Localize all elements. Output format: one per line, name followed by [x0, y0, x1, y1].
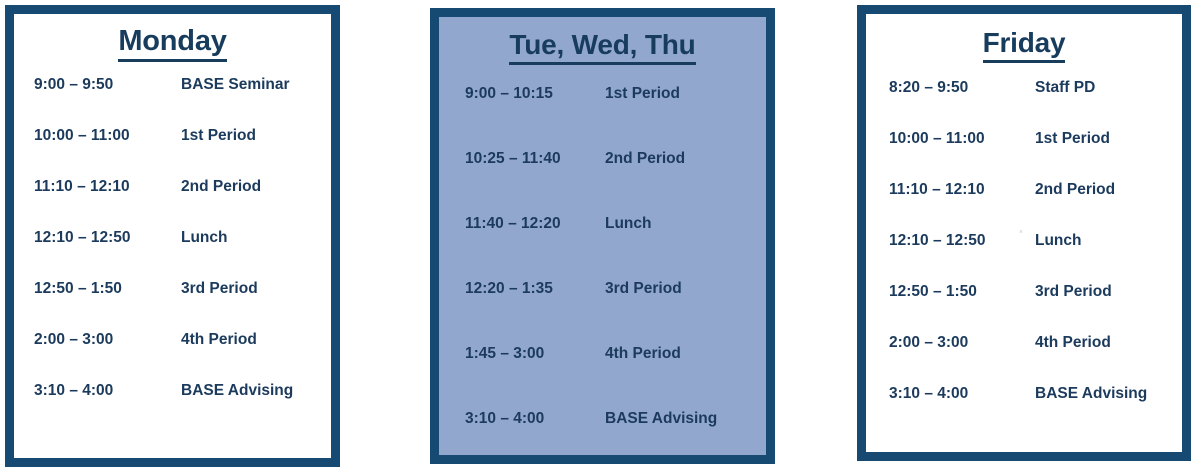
card-title-text: Tue, Wed, Thu [509, 29, 695, 65]
row-label: Lunch [181, 229, 228, 247]
row-time: 9:00 – 9:50 [34, 76, 181, 94]
row-label: 1st Period [181, 127, 256, 145]
schedule-row: 12:10 – 12:50 Lunch [889, 232, 1180, 283]
card-inner-monday: Monday 9:00 – 9:50 BASE Seminar 10:00 – … [14, 14, 331, 458]
row-label: 3rd Period [605, 280, 682, 298]
row-time: 12:50 – 1:50 [889, 283, 1035, 301]
row-time: 8:20 – 9:50 [889, 79, 1035, 97]
card-inner-friday: Friday 8:20 – 9:50 Staff PD 10:00 – 11:0… [866, 14, 1182, 452]
row-time: 12:50 – 1:50 [34, 280, 181, 298]
row-time: 3:10 – 4:00 [34, 382, 181, 400]
row-label: 3rd Period [1035, 283, 1112, 301]
row-label: BASE Advising [181, 382, 293, 400]
row-label: 2nd Period [181, 178, 261, 196]
row-time: 12:10 – 12:50 [889, 232, 1035, 250]
schedule-row: 9:00 – 9:50 BASE Seminar [34, 76, 329, 127]
row-label: 2nd Period [1035, 181, 1115, 199]
schedule-row: 11:40 – 12:20 Lunch [465, 215, 764, 280]
schedule-row: 10:00 – 11:00 1st Period [889, 130, 1180, 181]
row-label: BASE Advising [1035, 385, 1147, 403]
row-label: 3rd Period [181, 280, 258, 298]
row-time: 10:25 – 11:40 [465, 150, 605, 168]
row-label: 2nd Period [605, 150, 685, 168]
schedule-row: 12:10 – 12:50 Lunch [34, 229, 329, 280]
row-time: 2:00 – 3:00 [34, 331, 181, 349]
schedule-card-midweek: Tue, Wed, Thu 9:00 – 10:15 1st Period 10… [430, 8, 775, 464]
stray-mark-artifact: × [1019, 230, 1024, 235]
row-time: 11:10 – 12:10 [889, 181, 1035, 199]
schedule-row: 11:10 – 12:10 2nd Period [889, 181, 1180, 232]
schedule-row: 12:20 – 1:35 3rd Period [465, 280, 764, 345]
card-title-text: Friday [983, 27, 1066, 63]
card-inner-midweek: Tue, Wed, Thu 9:00 – 10:15 1st Period 10… [439, 17, 766, 455]
card-title-monday: Monday [16, 25, 329, 62]
row-label: Lunch [1035, 232, 1082, 250]
schedule-card-monday: Monday 9:00 – 9:50 BASE Seminar 10:00 – … [5, 5, 340, 467]
row-time: 11:10 – 12:10 [34, 178, 181, 196]
schedule-row: 3:10 – 4:00 BASE Advising [465, 410, 764, 475]
row-time: 10:00 – 11:00 [889, 130, 1035, 148]
card-title-text: Monday [118, 25, 226, 62]
schedule-row: 10:25 – 11:40 2nd Period [465, 150, 764, 215]
schedule-row: 10:00 – 11:00 1st Period [34, 127, 329, 178]
row-label: 1st Period [605, 85, 680, 103]
schedule-row: 3:10 – 4:00 BASE Advising [889, 385, 1180, 436]
schedule-rows-monday: 9:00 – 9:50 BASE Seminar 10:00 – 11:00 1… [16, 62, 329, 433]
row-time: 10:00 – 11:00 [34, 127, 181, 145]
schedule-row: 9:00 – 10:15 1st Period [465, 85, 764, 150]
schedule-board: Monday 9:00 – 9:50 BASE Seminar 10:00 – … [0, 0, 1200, 473]
card-title-friday: Friday [868, 27, 1180, 63]
row-label: 4th Period [605, 345, 681, 363]
schedule-row: 12:50 – 1:50 3rd Period [889, 283, 1180, 334]
schedule-rows-midweek: 9:00 – 10:15 1st Period 10:25 – 11:40 2n… [441, 65, 764, 475]
row-time: 12:20 – 1:35 [465, 280, 605, 298]
row-label: 4th Period [181, 331, 257, 349]
schedule-row: 11:10 – 12:10 2nd Period [34, 178, 329, 229]
row-time: 3:10 – 4:00 [465, 410, 605, 428]
row-label: BASE Seminar [181, 76, 290, 94]
row-label: 1st Period [1035, 130, 1110, 148]
schedule-row: 12:50 – 1:50 3rd Period [34, 280, 329, 331]
schedule-row: 3:10 – 4:00 BASE Advising [34, 382, 329, 433]
row-label: BASE Advising [605, 410, 717, 428]
row-time: 2:00 – 3:00 [889, 334, 1035, 352]
row-label: Lunch [605, 215, 652, 233]
schedule-rows-friday: 8:20 – 9:50 Staff PD 10:00 – 11:00 1st P… [868, 63, 1180, 436]
card-title-midweek: Tue, Wed, Thu [441, 29, 764, 65]
row-time: 11:40 – 12:20 [465, 215, 605, 233]
schedule-card-friday: Friday 8:20 – 9:50 Staff PD 10:00 – 11:0… [857, 5, 1191, 461]
row-time: 1:45 – 3:00 [465, 345, 605, 363]
row-label: 4th Period [1035, 334, 1111, 352]
row-label: Staff PD [1035, 79, 1095, 97]
row-time: 3:10 – 4:00 [889, 385, 1035, 403]
schedule-row: 2:00 – 3:00 4th Period [889, 334, 1180, 385]
schedule-row: 8:20 – 9:50 Staff PD [889, 79, 1180, 130]
schedule-row: 1:45 – 3:00 4th Period [465, 345, 764, 410]
row-time: 9:00 – 10:15 [465, 85, 605, 103]
row-time: 12:10 – 12:50 [34, 229, 181, 247]
schedule-row: 2:00 – 3:00 4th Period [34, 331, 329, 382]
